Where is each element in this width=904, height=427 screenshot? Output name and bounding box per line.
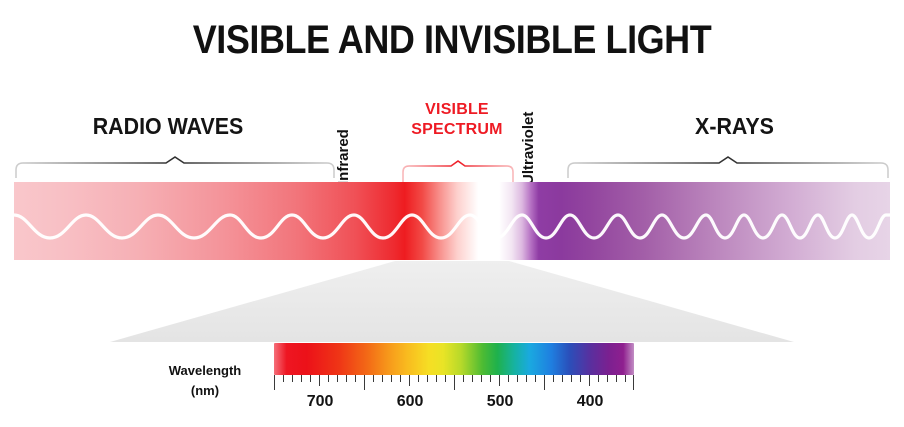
zoom-funnel [110, 261, 794, 344]
wavelength-axis-label-line1: Wavelength [150, 361, 260, 381]
band-label-infrared: Infrared [335, 129, 352, 185]
wavelength-ruler-ticks [274, 375, 634, 391]
tick-label-500: 500 [487, 393, 514, 411]
rainbow-gradient-bar [274, 343, 634, 375]
electromagnetic-spectrum-bar [14, 182, 890, 260]
visible-spectrum-scale: 700 600 500 400 [274, 343, 634, 427]
band-label-xrays: X-RAYS [577, 113, 892, 140]
band-label-ultraviolet: Ultraviolet [520, 112, 537, 185]
page-title: VISIBLE AND INVISIBLE LIGHT [45, 18, 859, 63]
band-label-visible-spectrum: VISIBLE SPECTRUM [392, 100, 522, 140]
wavelength-tick-labels: 700 600 500 400 [274, 393, 634, 417]
bracket-radio-waves [14, 156, 336, 178]
band-label-radio-waves: RADIO WAVES [12, 113, 324, 140]
bracket-xrays [566, 156, 890, 178]
wavelength-axis-label: Wavelength (nm) [150, 361, 260, 401]
tick-label-400: 400 [577, 393, 604, 411]
visible-spectrum-line2: SPECTRUM [392, 120, 522, 140]
wave-overlay-icon [14, 182, 890, 260]
tick-label-700: 700 [307, 393, 334, 411]
tick-label-600: 600 [397, 393, 424, 411]
wavelength-axis-label-line2: (nm) [150, 381, 260, 401]
bracket-visible-spectrum [401, 160, 515, 182]
visible-spectrum-line1: VISIBLE [392, 100, 522, 120]
